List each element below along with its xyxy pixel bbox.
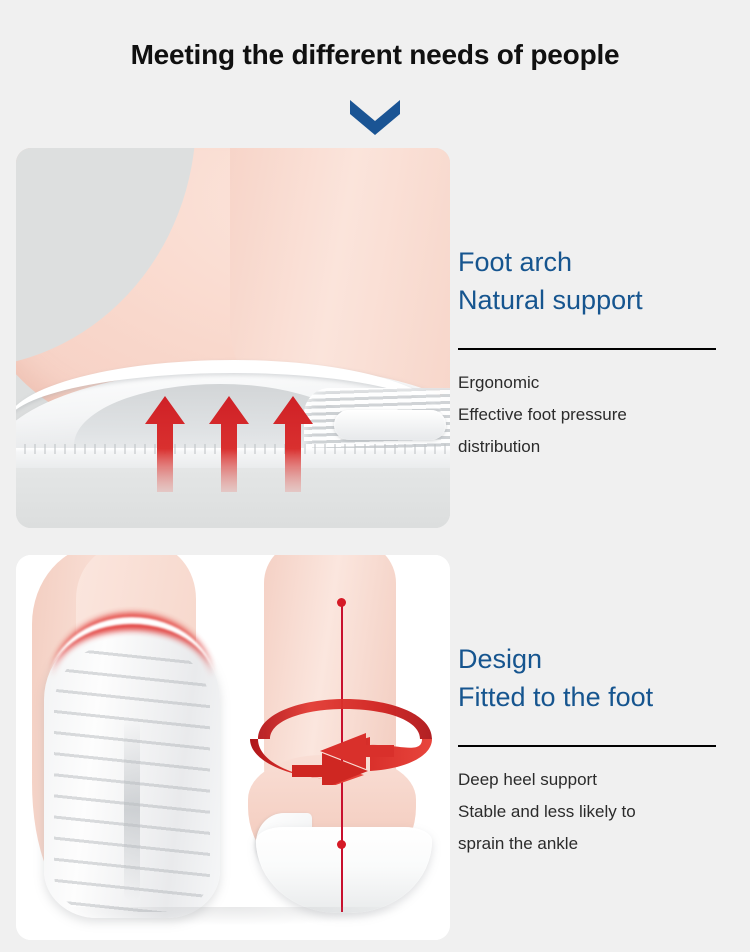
- insole-heel-pad-core: [334, 410, 446, 440]
- heading-divider: [458, 745, 716, 747]
- feature-body-heel-design: Deep heel support Stable and less likely…: [458, 764, 720, 860]
- up-arrow-icon: [144, 396, 186, 492]
- alignment-axis-dot-top: [337, 598, 346, 607]
- page-title: Meeting the different needs of people: [0, 39, 750, 71]
- foot-side-view-on-insole-photo: [16, 148, 450, 528]
- chevron-down-decoration: [0, 96, 750, 138]
- chevron-down-icon: [346, 96, 404, 138]
- up-arrow-icon: [272, 396, 314, 492]
- feature-block-foot-arch: Foot arch Natural support Ergonomic Effe…: [0, 148, 750, 528]
- rotation-arrow-icon: [244, 695, 446, 785]
- feature-body-foot-arch: Ergonomic Effective foot pressure distri…: [458, 367, 720, 463]
- feature-text-foot-arch: Foot arch Natural support Ergonomic Effe…: [458, 243, 720, 463]
- body-line: Effective foot pressure: [458, 399, 720, 431]
- up-arrow-icon: [208, 396, 250, 492]
- feature-heading-line2: Natural support: [458, 281, 720, 319]
- insole-tread-and-rear-ankle-photo: [16, 555, 450, 940]
- body-line: Ergonomic: [458, 367, 720, 399]
- body-line: Deep heel support: [458, 764, 720, 796]
- alignment-axis-dot-bottom: [337, 840, 346, 849]
- floor-shadow: [34, 907, 434, 933]
- insole-tread-spine: [124, 719, 140, 901]
- feature-heading-line1: Design: [458, 640, 720, 678]
- body-line: Stable and less likely to: [458, 796, 720, 828]
- body-line: sprain the ankle: [458, 828, 720, 860]
- heading-divider: [458, 348, 716, 350]
- arch-support-arrow-group: [144, 392, 324, 492]
- feature-text-heel-design: Design Fitted to the foot Deep heel supp…: [458, 640, 720, 860]
- feature-block-heel-design: Design Fitted to the foot Deep heel supp…: [0, 555, 750, 940]
- feature-heading-line2: Fitted to the foot: [458, 678, 720, 716]
- feature-heading-line1: Foot arch: [458, 243, 720, 281]
- ankle-rotation-ribbon: [244, 695, 446, 785]
- body-line: distribution: [458, 431, 720, 463]
